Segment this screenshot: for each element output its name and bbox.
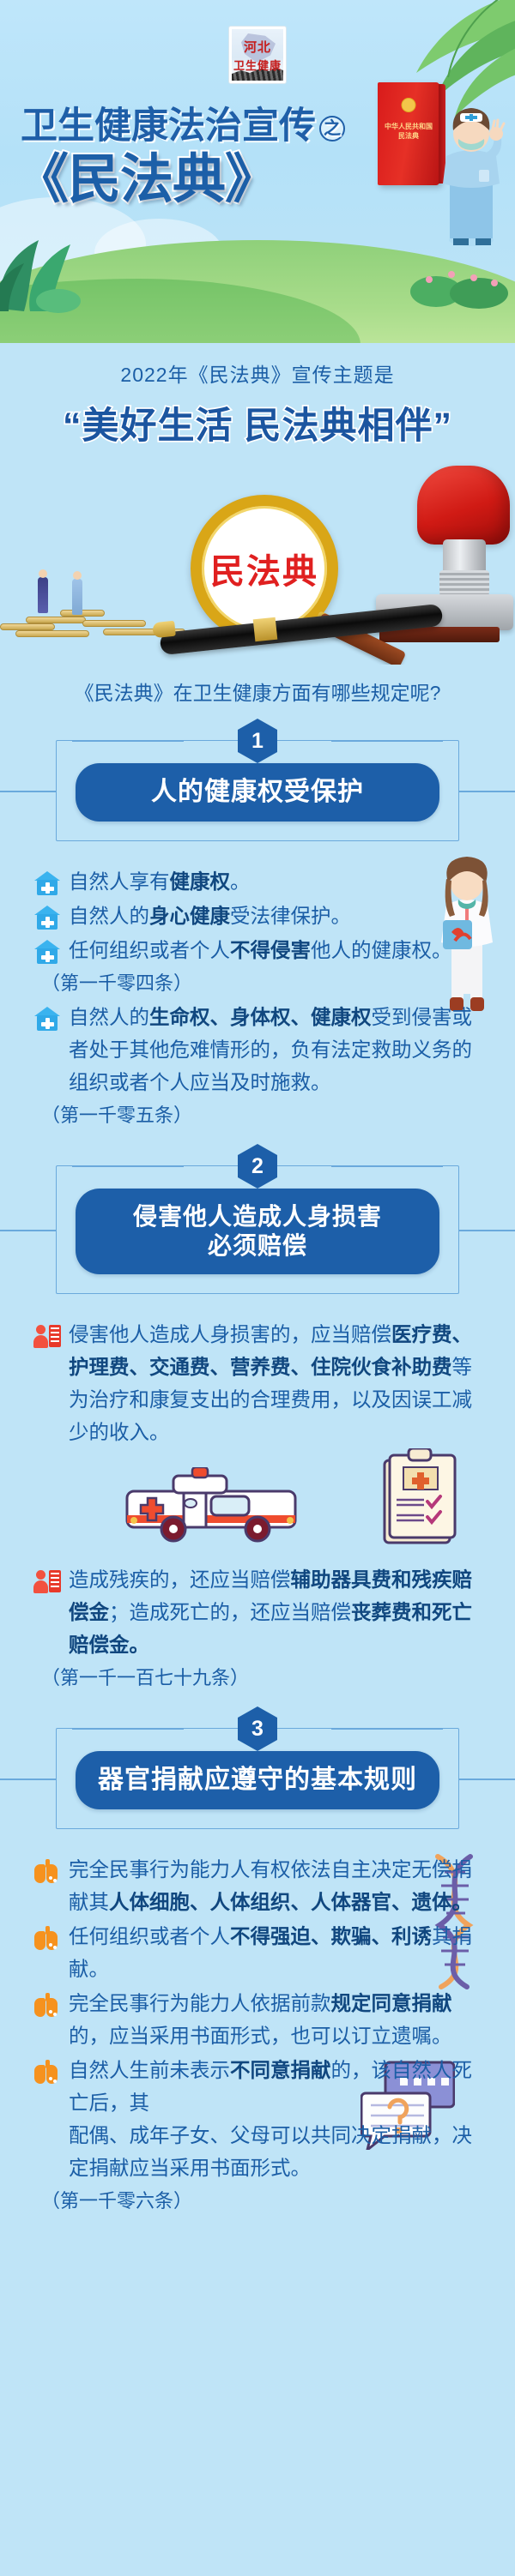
zhi-badge: 之 xyxy=(319,116,345,141)
civil-code-book: 中华人民共和国民法典 xyxy=(378,82,439,185)
health-house-icon xyxy=(34,1007,60,1031)
person-document-icon xyxy=(34,1569,60,1593)
list-item: 自然人的身心健康受法律保护。 xyxy=(34,900,484,932)
gavel-grip xyxy=(439,570,489,596)
nurse-illustration xyxy=(434,96,508,246)
infographic-poster: 河北 卫生健康 卫生健康法治宣传之 《民法典》 中华人民共和国民法典 xyxy=(0,0,515,2576)
list-item: 自然人享有健康权。 xyxy=(34,865,484,898)
list-item: 侵害他人造成人身损害的，应当赔偿医疗费、护理费、交通费、营养费、住院伙食补助费等… xyxy=(34,1318,484,1448)
poster-header: 河北 卫生健康 卫生健康法治宣传之 《民法典》 中华人民共和国民法典 xyxy=(0,0,515,343)
section-body-3: 完全民事行为能力人有权依法自主决定无偿捐献其人体细胞、人体组织、人体器官、遗体。… xyxy=(0,1848,515,2222)
section-number-2: 2 xyxy=(238,1144,277,1189)
lungs-icon xyxy=(34,2060,60,2084)
pen-band xyxy=(253,617,278,642)
section-number-badge-2: 2 xyxy=(238,1144,277,1189)
lungs-icon xyxy=(34,1926,60,1950)
medical-clipboard-illustration xyxy=(376,1448,462,1550)
ambulance-scene xyxy=(0,1454,515,1558)
list-item: 任何组织或者个人不得强迫、欺骗、利诱其捐献。 xyxy=(34,1920,484,1985)
magnifier-gavel-scene: 民法典 xyxy=(0,450,515,665)
list-item: 自然人的生命权、身体权、健康权受到侵害或者处于其他危难情形的，负有法定救助义务的… xyxy=(34,1001,484,1098)
list-item: 完全民事行为能力人有权依法自主决定无偿捐献其人体细胞、人体组织、人体器官、遗体。 xyxy=(34,1853,484,1918)
page-subtitle: 《民法典》 xyxy=(15,135,277,213)
lungs-icon xyxy=(34,1859,60,1883)
question-line: 《民法典》在卫生健康方面有哪些规定呢? xyxy=(0,665,515,711)
section-body-1: 自然人享有健康权。 自然人的身心健康受法律保护。 任何组织或者个人不得侵害他人的… xyxy=(0,860,515,1136)
person-document-icon xyxy=(34,1324,60,1348)
section-header-1: 1 人的健康权受保护 xyxy=(0,711,515,860)
flower-bush-right xyxy=(410,250,513,310)
list-item: 自然人生前未表示不同意捐献的，该自然人死亡后，其配偶、成年子女、父母可以共同决定… xyxy=(34,2054,484,2184)
lungs-icon xyxy=(34,1993,60,2017)
law-citation: （第一千零四条） xyxy=(34,968,484,996)
leaf-cluster-left xyxy=(0,219,120,313)
section-title-2-text: 侵害他人造成人身损害必须赔偿 xyxy=(133,1202,382,1260)
list-item: 完全民事行为能力人依据前款规定同意捐献的，应当采用书面形式，也可以订立遗嘱。 xyxy=(34,1987,484,2052)
law-citation: （第一千零六条） xyxy=(34,2186,484,2213)
section-title-1: 人的健康权受保护 xyxy=(76,763,439,822)
national-emblem-icon xyxy=(402,98,416,112)
health-house-icon xyxy=(34,906,60,930)
book-title-text: 中华人民共和国民法典 xyxy=(378,122,439,141)
health-house-icon xyxy=(34,940,60,964)
pen-tip xyxy=(152,621,176,639)
theme-intro: 2022年《民法典》宣传主题是 xyxy=(0,358,515,388)
section-number-1: 1 xyxy=(238,719,277,763)
law-citation: （第一千一百七十九条） xyxy=(34,1663,484,1690)
section-number-3: 3 xyxy=(238,1706,277,1751)
section-header-2: 2 侵害他人造成人身损害必须赔偿 xyxy=(0,1136,515,1313)
gavel-head xyxy=(417,466,510,545)
figurine-businessman xyxy=(38,577,48,613)
section-number-badge-3: 3 xyxy=(238,1706,277,1751)
ambulance-illustration xyxy=(120,1467,311,1548)
section-header-3: 3 器官捐献应遵守的基本规则 xyxy=(0,1699,515,1848)
section-body-2b: 造成残疾的，还应当赔偿辅助器具费和残疾赔偿金；造成死亡的，还应当赔偿丧葬费和死亡… xyxy=(0,1558,515,1699)
logo-line2: 卫生健康 xyxy=(233,57,282,73)
section-title-2: 侵害他人造成人身损害必须赔偿 xyxy=(76,1189,439,1274)
section-number-badge-1: 1 xyxy=(238,719,277,763)
law-citation: （第一千零五条） xyxy=(34,1100,484,1128)
section-title-3: 器官捐献应遵守的基本规则 xyxy=(76,1751,439,1809)
logo-line1: 河北 xyxy=(244,38,271,56)
figurine-businessman xyxy=(72,579,82,615)
health-house-icon xyxy=(34,871,60,895)
theme-slogan: “美好生活 民法典相伴” xyxy=(0,396,515,449)
list-item: 任何组织或者个人不得侵害他人的健康权。 xyxy=(34,934,484,966)
section-body-2a: 侵害他人造成人身损害的，应当赔偿医疗费、护理费、交通费、营养费、住院伙食补助费等… xyxy=(0,1313,515,1454)
list-item: 造成残疾的，还应当赔偿辅助器具费和残疾赔偿金；造成死亡的，还应当赔偿丧葬费和死亡… xyxy=(34,1563,484,1661)
theme-band: 2022年《民法典》宣传主题是 “美好生活 民法典相伴” xyxy=(0,343,515,450)
hebei-health-logo: 河北 卫生健康 xyxy=(228,26,287,84)
